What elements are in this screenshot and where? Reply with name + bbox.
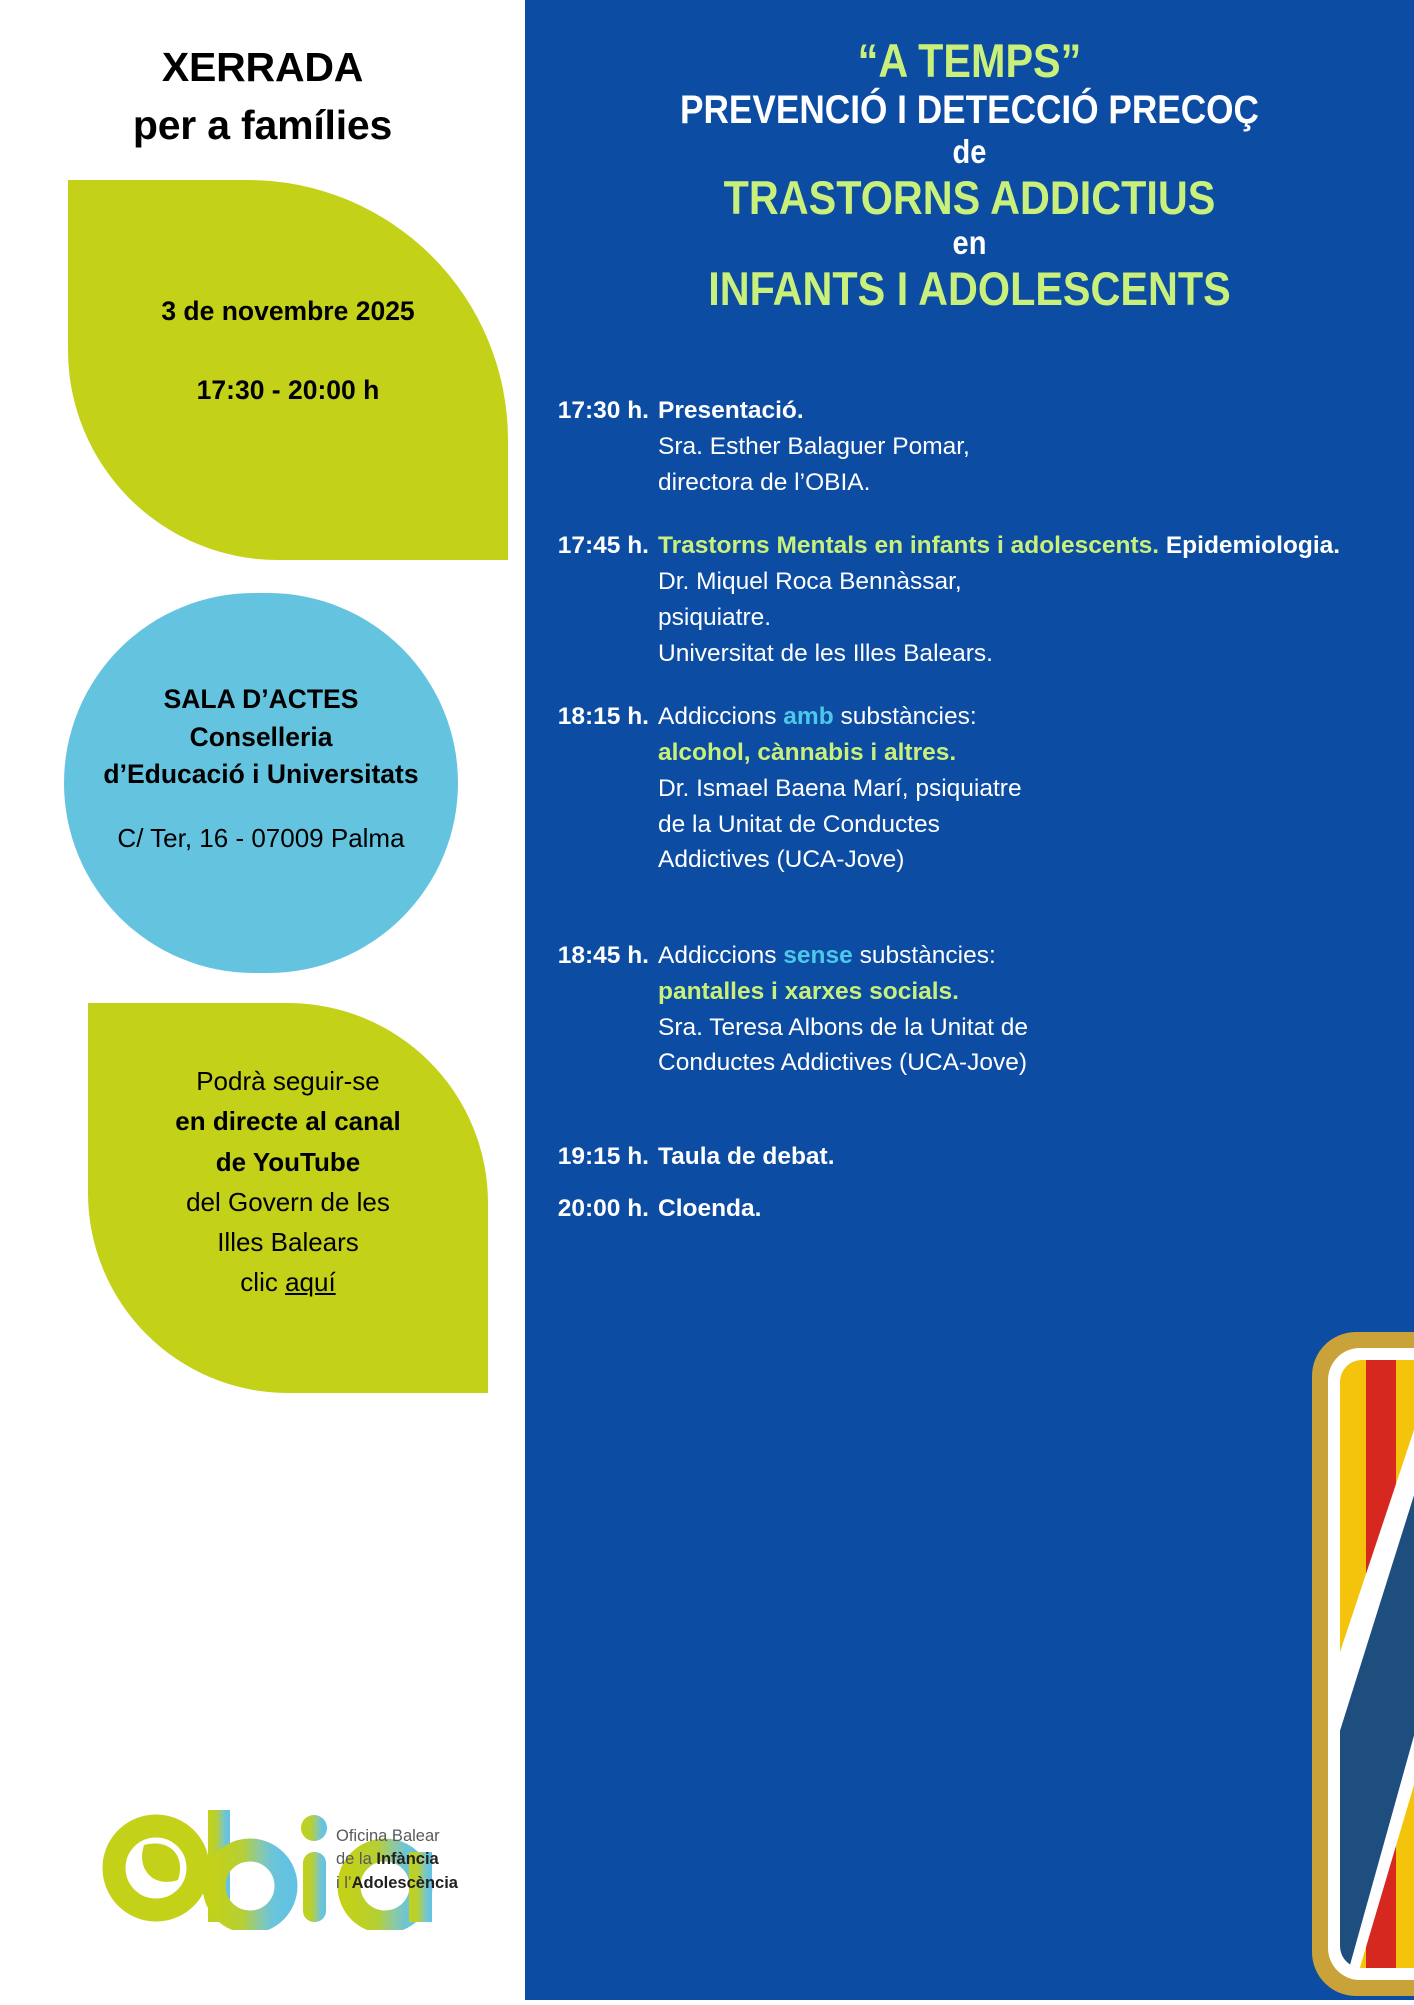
schedule-heading: Taula de debat. [658,1143,835,1170]
stream-line-5: Illes Balears [88,1222,488,1262]
stream-line-4: del Govern de les [88,1182,488,1222]
tagline-line-1: Oficina Balear [336,1825,516,1848]
schedule-body: Addiccions sense substàncies: pantalles … [658,938,1388,1081]
title-line-4: TRASTORNS ADDICTIUS [578,171,1360,225]
balearic-coat-of-arms-icon [1308,1328,1414,2000]
schedule-list: 17:30 h. Presentació. Sra. Esther Balagu… [525,393,1414,1227]
stream-block: Podrà seguir-se en directe al canal de Y… [88,1061,488,1303]
title-line-3: de [578,133,1360,171]
spacer [543,1175,1388,1191]
schedule-heading: Presentació. [658,397,804,424]
page-title: XERRADA per a famílies [0,38,525,154]
tagline-line-3: i l’Adolescència [336,1872,516,1895]
title-line-2: PREVENCIÓ I DETECCIÓ PRECOÇ [578,88,1360,134]
schedule-accent: amb [783,703,833,730]
schedule-body: Addiccions amb substàncies: alcohol, càn… [658,699,1388,878]
schedule-lead-tail: substàncies: [853,942,996,969]
schedule-detail: Addictives (UCA-Jove) [658,842,1388,878]
schedule-subtitle: pantalles i xarxes socials. [658,978,959,1005]
schedule-detail: Sra. Teresa Albons de la Unitat de [658,1010,1388,1046]
schedule-time: 18:45 h. [543,938,658,1081]
schedule-time: 20:00 h. [543,1191,658,1227]
schedule-item: 20:00 h. Cloenda. [543,1191,1388,1227]
date-time-block: 3 de novembre 2025 17:30 - 20:00 h [68,298,508,403]
schedule-detail: directora de l’OBIA. [658,465,1388,501]
schedule-detail: Dr. Miquel Roca Bennàssar, [658,564,1388,600]
stream-link-prefix: clic [240,1267,285,1297]
schedule-detail: Universitat de les Illes Balears. [658,636,1388,672]
schedule-lead-tail: substàncies: [834,703,977,730]
event-title-block: “A TEMPS” PREVENCIÓ I DETECCIÓ PRECOÇ de… [525,34,1414,316]
obia-tagline: Oficina Balear de la Infància i l’Adoles… [336,1825,516,1895]
schedule-body: Taula de debat. [658,1139,1388,1175]
spacer [543,878,1388,938]
schedule-body: Trastorns Mentals en infants i adolescen… [658,528,1388,671]
spacer [543,500,1388,528]
stream-link-row[interactable]: clic aquí [88,1262,488,1302]
schedule-item: 19:15 h. Taula de debat. [543,1139,1388,1175]
schedule-detail: psiquiatre. [658,600,1388,636]
poster-root: XERRADA per a famílies 3 de novembre 202… [0,0,1414,2000]
schedule-title-white: Epidemiologia. [1159,532,1340,559]
schedule-heading: Cloenda. [658,1195,761,1222]
tagline-line-2: de la Infància [336,1848,516,1871]
left-column: XERRADA per a famílies 3 de novembre 202… [0,0,525,2000]
event-date: 3 de novembre 2025 [161,296,414,326]
schedule-item: 18:45 h. Addiccions sense substàncies: p… [543,938,1388,1081]
stream-shape: Podrà seguir-se en directe al canal de Y… [88,1003,488,1393]
venue-shape: SALA D’ACTES Conselleria d’Educació i Un… [64,593,458,973]
tagline-line-2-normal: de la [336,1850,376,1868]
venue-block: SALA D’ACTES Conselleria d’Educació i Un… [64,681,458,857]
stream-line-3: de YouTube [88,1142,488,1182]
schedule-lead: Addiccions [658,942,783,969]
schedule-item: 17:45 h. Trastorns Mentals en infants i … [543,528,1388,671]
venue-address: C/ Ter, 16 - 07009 Palma [64,820,458,857]
stream-line-1: Podrà seguir-se [88,1061,488,1101]
title-line-5: en [578,224,1360,262]
schedule-item: 17:30 h. Presentació. Sra. Esther Balagu… [543,393,1388,500]
schedule-time: 19:15 h. [543,1139,658,1175]
stream-line-2: en directe al canal [88,1101,488,1141]
schedule-subtitle: alcohol, cànnabis i altres. [658,739,956,766]
schedule-detail: Dr. Ismael Baena Marí, psiquiatre [658,771,1388,807]
schedule-detail: Sra. Esther Balaguer Pomar, [658,429,1388,465]
tagline-line-3-normal: i l’ [336,1874,352,1892]
tagline-line-3-bold: Adolescència [352,1874,458,1892]
schedule-time: 17:30 h. [543,393,658,500]
schedule-detail: de la Unitat de Conductes [658,807,1388,843]
schedule-body: Presentació. Sra. Esther Balaguer Pomar,… [658,393,1388,500]
venue-line-3: d’Educació i Universitats [64,756,458,794]
schedule-item: 18:15 h. Addiccions amb substàncies: alc… [543,699,1388,878]
schedule-accent: sense [783,942,852,969]
date-shape: 3 de novembre 2025 17:30 - 20:00 h [68,180,508,560]
title-line-6: INFANTS I ADOLESCENTS [578,262,1360,316]
schedule-lead: Addiccions [658,703,783,730]
spacer [543,1081,1388,1139]
headline-line-1: XERRADA [0,38,525,96]
title-line-1: “A TEMPS” [578,34,1360,88]
venue-line-1: SALA D’ACTES [64,681,458,719]
spacer [543,671,1388,699]
headline-line-2: per a famílies [0,96,525,154]
schedule-body: Cloenda. [658,1191,1388,1227]
crest-svg [1308,1328,1414,2000]
venue-line-2: Conselleria [64,719,458,757]
schedule-detail: Conductes Addictives (UCA-Jove) [658,1045,1388,1081]
stream-link-aqui[interactable]: aquí [285,1267,336,1297]
tagline-line-2-bold: Infància [376,1850,438,1868]
right-panel: “A TEMPS” PREVENCIÓ I DETECCIÓ PRECOÇ de… [525,0,1414,2000]
schedule-time: 18:15 h. [543,699,658,878]
schedule-time: 17:45 h. [543,528,658,671]
event-time: 17:30 - 20:00 h [68,377,508,404]
schedule-title-green: Trastorns Mentals en infants i adolescen… [658,532,1159,559]
